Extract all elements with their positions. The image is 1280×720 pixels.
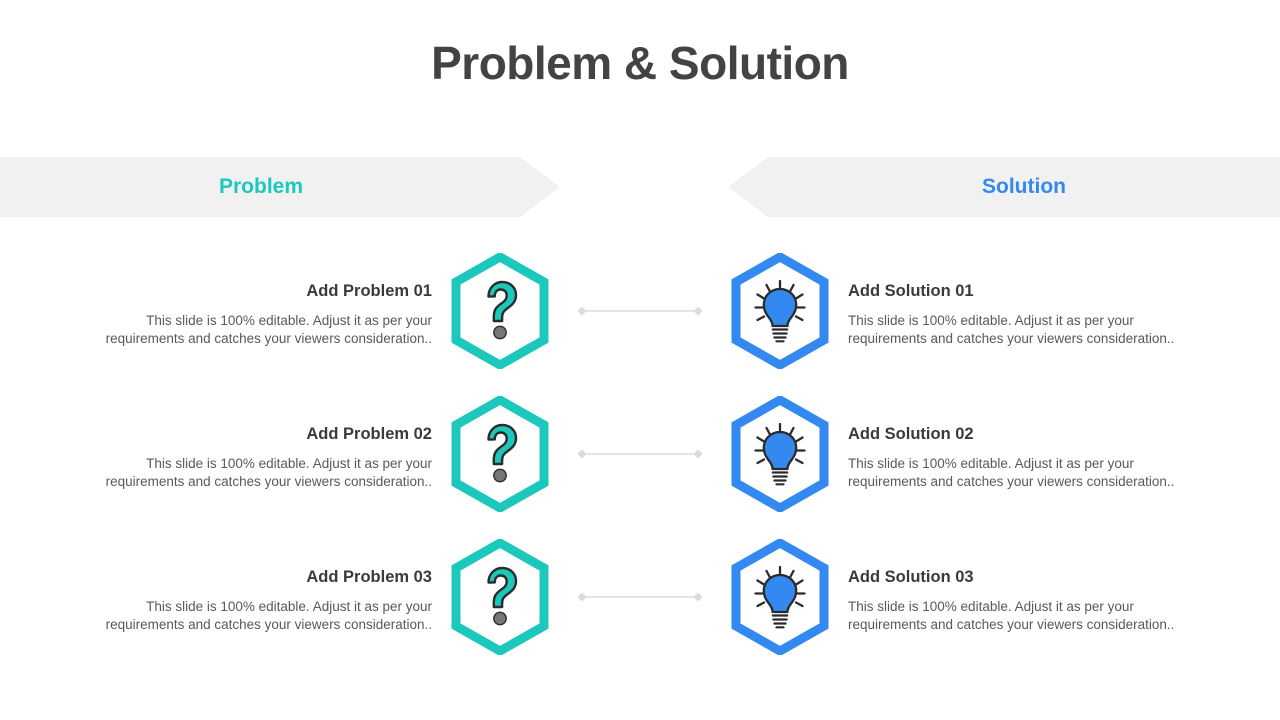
problem-banner[interactable]: Problem: [0, 157, 560, 217]
solution-banner[interactable]: Solution: [728, 157, 1280, 217]
problem-body: This slide is 100% editable. Adjust it a…: [76, 312, 432, 349]
solution-body: This slide is 100% editable. Adjust it a…: [848, 312, 1204, 349]
problem-heading: Add Problem 01: [76, 282, 432, 302]
lightbulb-hexagon-icon[interactable]: [730, 539, 830, 655]
content-row: Add Problem 03 This slide is 100% editab…: [0, 539, 1280, 665]
solution-heading: Add Solution 01: [848, 282, 1204, 302]
problem-banner-label: Problem: [219, 175, 303, 199]
content-row: Add Problem 02 This slide is 100% editab…: [0, 396, 1280, 522]
question-mark-hexagon-icon[interactable]: [450, 539, 550, 655]
solution-heading: Add Solution 02: [848, 425, 1204, 445]
solution-text-block: Add Solution 02 This slide is 100% edita…: [848, 425, 1204, 492]
problem-text-block: Add Problem 03 This slide is 100% editab…: [76, 568, 432, 635]
page-title: Problem & Solution: [0, 36, 1280, 90]
problem-body: This slide is 100% editable. Adjust it a…: [76, 598, 432, 635]
problem-text-block: Add Problem 02 This slide is 100% editab…: [76, 425, 432, 492]
slide-canvas: Problem & Solution Problem Solution Add …: [0, 0, 1280, 720]
lightbulb-hexagon-icon[interactable]: [730, 396, 830, 512]
connector-arrow: [576, 448, 704, 460]
solution-body: This slide is 100% editable. Adjust it a…: [848, 455, 1204, 492]
problem-heading: Add Problem 02: [76, 425, 432, 445]
content-row: Add Problem 01 This slide is 100% editab…: [0, 253, 1280, 379]
problem-body: This slide is 100% editable. Adjust it a…: [76, 455, 432, 492]
solution-heading: Add Solution 03: [848, 568, 1204, 588]
connector-arrow: [576, 591, 704, 603]
connector-arrow: [576, 305, 704, 317]
solution-text-block: Add Solution 03 This slide is 100% edita…: [848, 568, 1204, 635]
problem-text-block: Add Problem 01 This slide is 100% editab…: [76, 282, 432, 349]
question-mark-hexagon-icon[interactable]: [450, 396, 550, 512]
problem-heading: Add Problem 03: [76, 568, 432, 588]
lightbulb-hexagon-icon[interactable]: [730, 253, 830, 369]
solution-banner-label: Solution: [982, 175, 1066, 199]
solution-body: This slide is 100% editable. Adjust it a…: [848, 598, 1204, 635]
solution-text-block: Add Solution 01 This slide is 100% edita…: [848, 282, 1204, 349]
question-mark-hexagon-icon[interactable]: [450, 253, 550, 369]
